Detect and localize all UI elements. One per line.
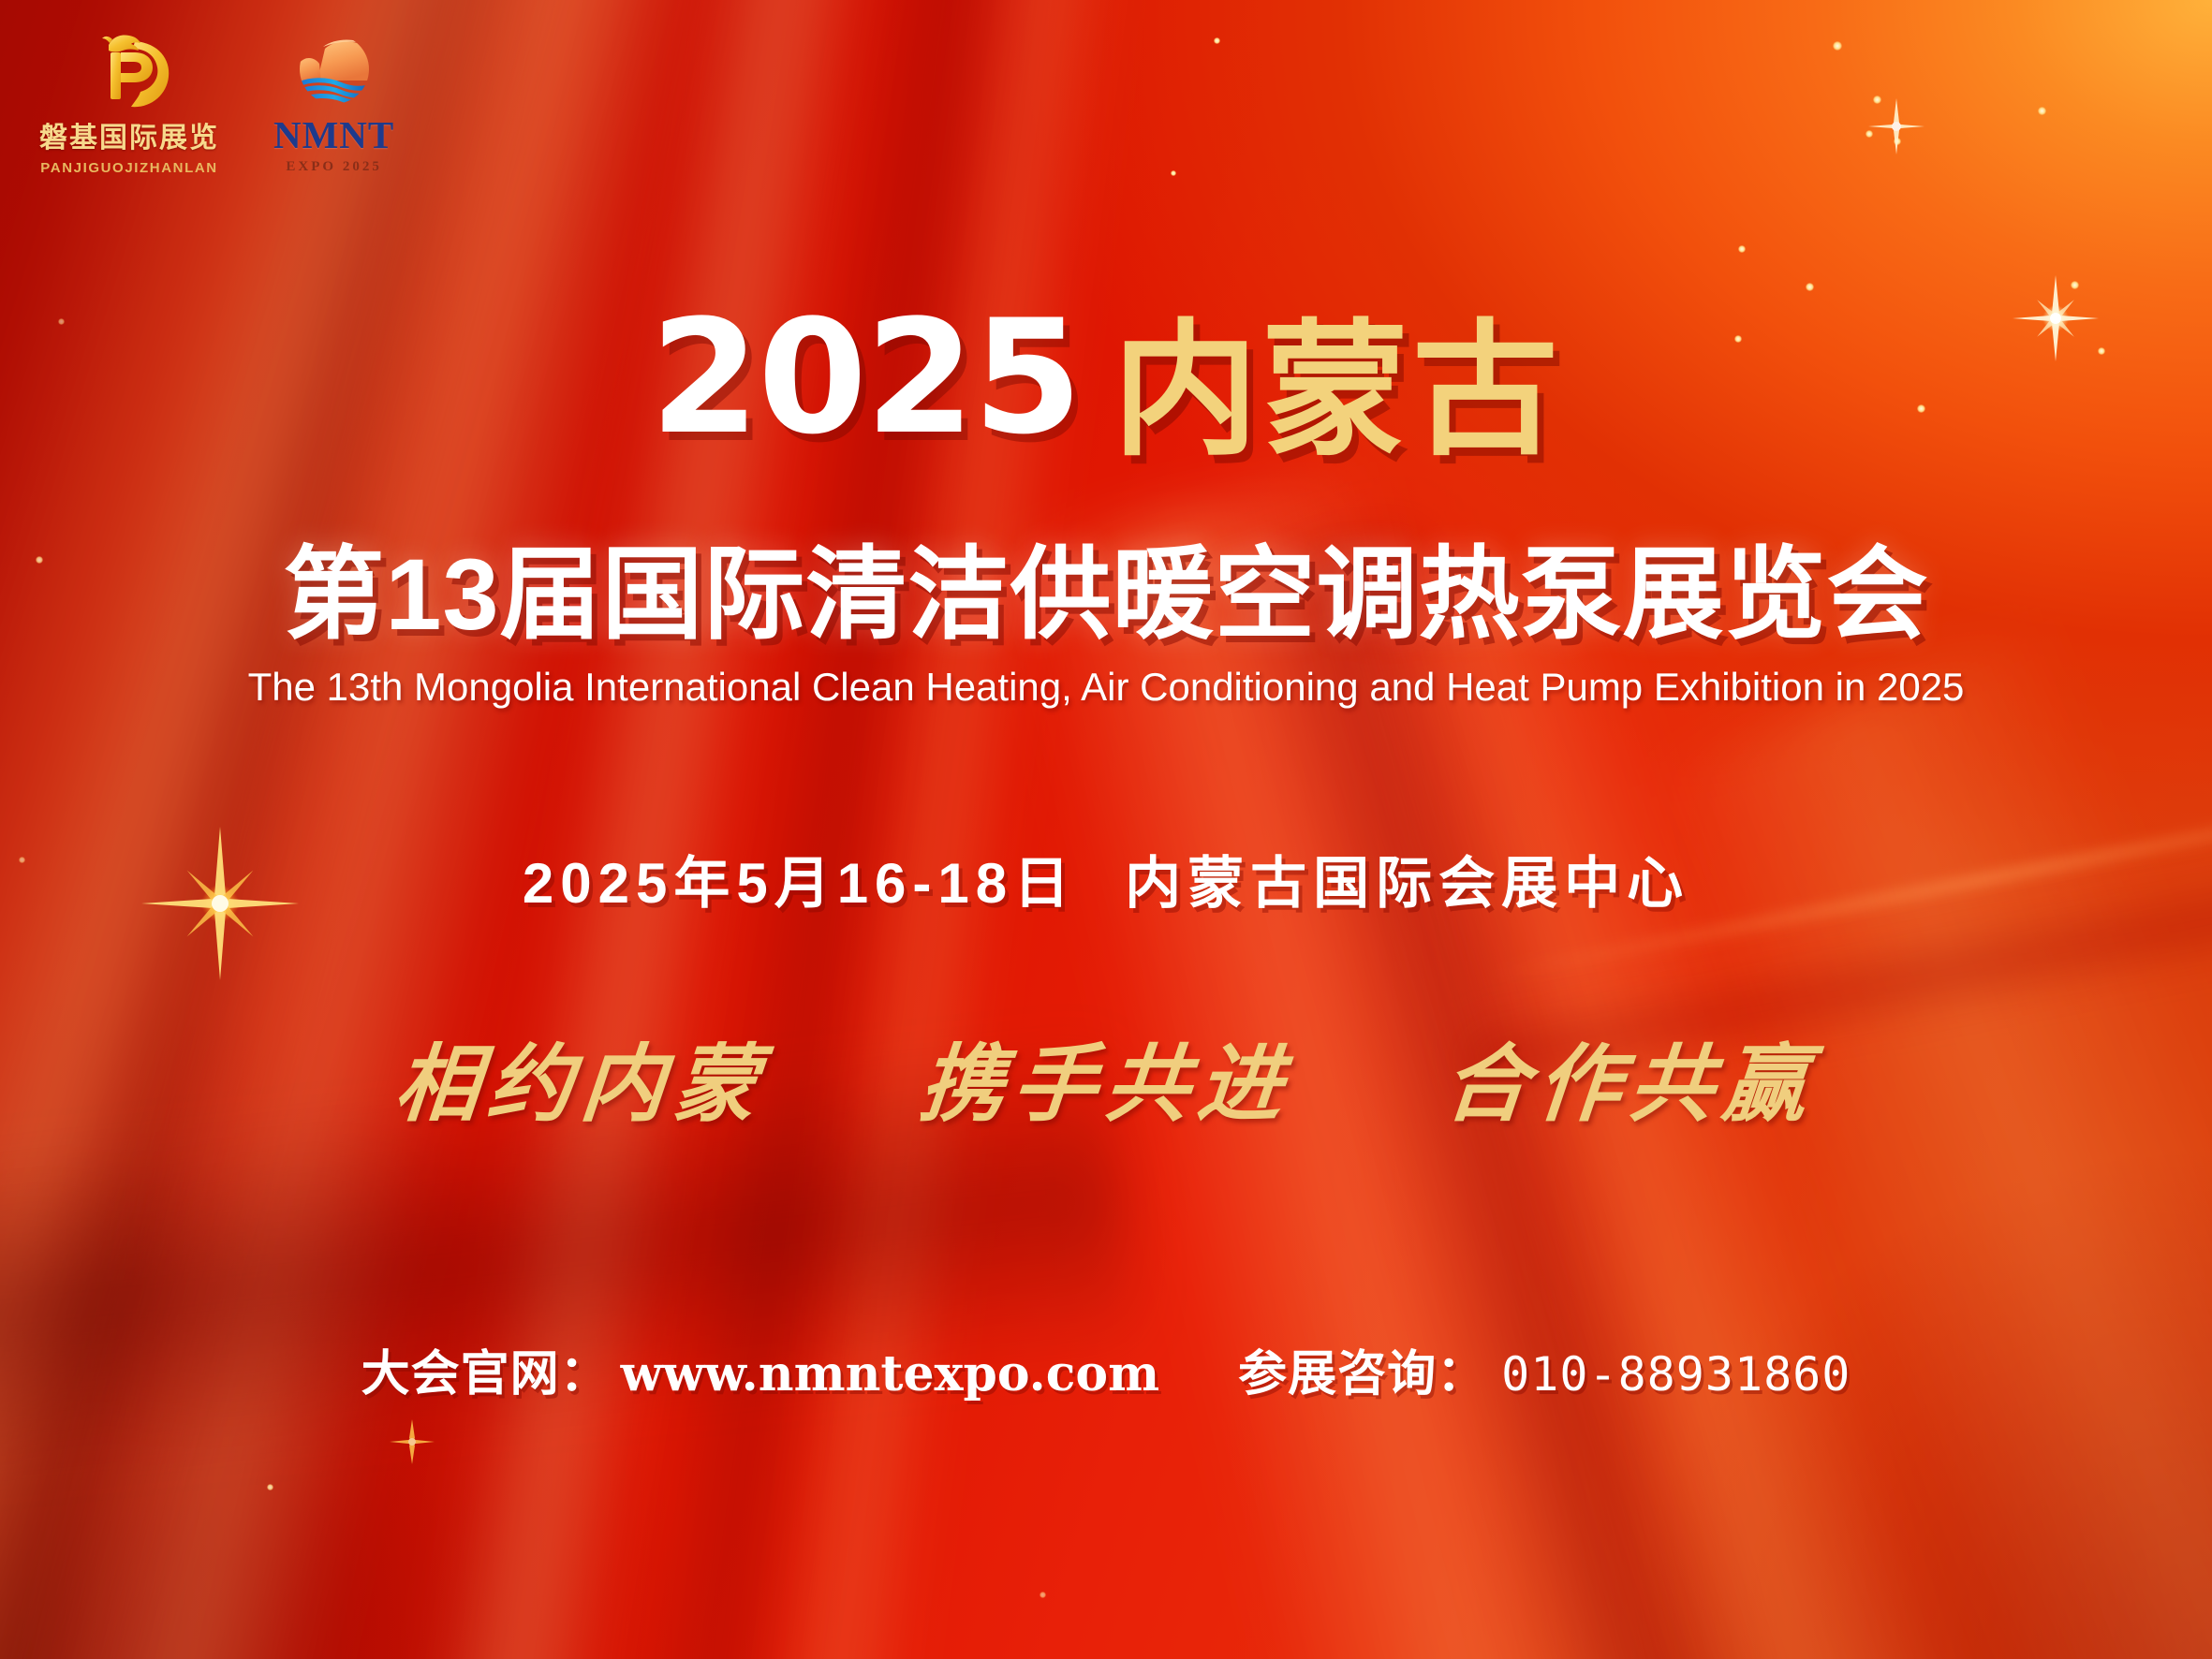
nmnt-sun-water-icon [289,26,379,112]
nmnt-logo[interactable]: NMNT EXPO 2025 [273,26,394,175]
dragon-p-icon [81,26,178,112]
headline: 2025内蒙古 [0,272,2212,483]
sparkle-dot [1894,138,1901,145]
nmnt-sublabel: EXPO 2025 [286,159,381,175]
sparkle-dot [2038,107,2046,115]
sparkle-dot [1873,95,1881,104]
sparkle-dot [1171,170,1176,176]
slogan-1: 相约内蒙 [391,1016,772,1138]
silk-fold-layer [0,0,2212,1659]
date-venue-line: 2025年5月16-18日内蒙古国际会展中心 [0,838,2212,919]
website-label: 大会官网： [361,1347,610,1402]
nmnt-wordmark: NMNT [273,112,394,157]
slogan-3: 合作共赢 [1439,1016,1821,1138]
sparkle-dot [1214,37,1220,44]
event-venue: 内蒙古国际会展中心 [1125,852,1689,915]
slogan-2: 携手共进 [915,1016,1296,1138]
exhibition-poster: 磐基国际展览 PANJIGUOJIZHANLAN [0,0,2212,1659]
phone-label: 参展咨询： [1238,1347,1486,1402]
panji-logo-en: PANJIGUOJIZHANLAN [40,160,217,176]
subtitle-english: The 13th Mongolia International Clean He… [0,665,2212,710]
event-date: 2025年5月16-18日 [523,852,1076,915]
panji-logo[interactable]: 磐基国际展览 PANJIGUOJIZHANLAN [39,26,219,176]
phone-number[interactable]: 010-88931860 [1501,1347,1851,1402]
sparkle-dot [1040,1592,1046,1598]
subtitle-chinese: 第13届国际清洁供暖空调热泵展览会 [0,513,2212,659]
sparkle-dot [1865,130,1873,138]
sparkle-dot [267,1484,273,1490]
panji-logo-cn: 磐基国际展览 [39,114,219,155]
logo-bar: 磐基国际展览 PANJIGUOJIZHANLAN [39,26,394,176]
headline-year: 2025 [650,286,1081,469]
slogan-row: 相约内蒙 携手共进 合作共赢 [0,1016,2212,1138]
sparkle-dot [1738,245,1746,253]
contact-row: 大会官网：www.nmntexpo.com参展咨询：010-88931860 [0,1334,2212,1404]
headline-region: 内蒙古 [1113,310,1562,473]
website-url[interactable]: www.nmntexpo.com [621,1345,1160,1402]
sparkle-dot [1833,41,1842,51]
